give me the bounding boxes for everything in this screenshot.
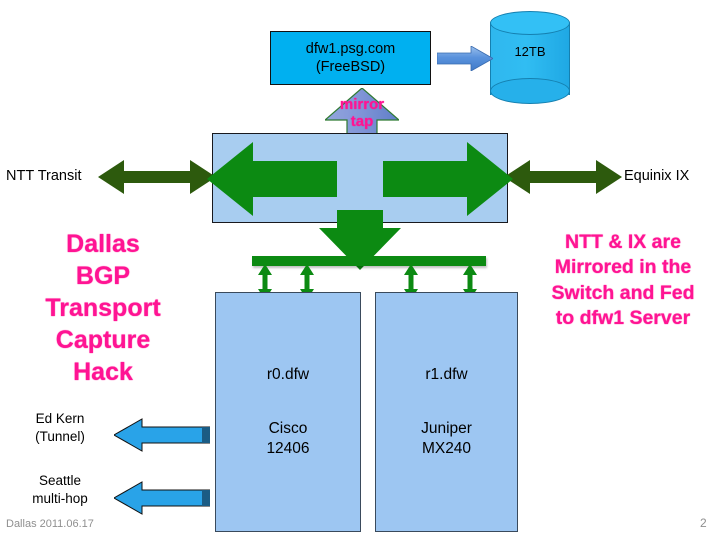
title-line-5: Hack: [8, 356, 198, 388]
seattle-multihop-label: Seattle multi-hop: [8, 472, 112, 507]
note-line-1: NTT & IX are: [526, 230, 720, 255]
server-box: dfw1.psg.com (FreeBSD): [270, 31, 431, 85]
router-model: Juniper MX240: [421, 419, 472, 459]
cylinder-bottom-cap: [490, 78, 570, 104]
cylinder-database-icon: 12TB: [490, 14, 572, 106]
cylinder-top-cap: [490, 11, 570, 35]
ed-kern-tunnel-label: Ed Kern (Tunnel): [8, 410, 112, 445]
note-line-2: Mirrored in the: [526, 255, 720, 280]
mirror-tap-label: mirror tap: [319, 96, 405, 131]
slide-canvas: 12TB dfw1.psg.com (FreeBSD): [0, 0, 720, 540]
router-name: r0.dfw: [267, 365, 309, 384]
equinix-ix-label: Equinix IX: [624, 168, 720, 184]
title-line-2: BGP: [8, 260, 198, 292]
seattle-line1: Seattle: [39, 473, 81, 488]
server-hostname: dfw1.psg.com: [306, 40, 395, 58]
note-line-3: Switch and Fed: [526, 281, 720, 306]
annotation-note: NTT & IX are Mirrored in the Switch and …: [526, 230, 720, 331]
router-vendor: Cisco: [269, 420, 308, 437]
router-model-number: 12406: [266, 440, 309, 457]
double-arrow-horizontal-icon: [504, 158, 622, 196]
page-title: Dallas BGP Transport Capture Hack: [8, 228, 198, 388]
footer-date: Dallas 2011.06.17: [6, 518, 94, 530]
title-line-4: Capture: [8, 324, 198, 356]
left-arrow-icon: [114, 481, 210, 515]
double-arrow-horizontal-icon: [98, 158, 216, 196]
server-os: (FreeBSD): [306, 58, 395, 76]
router-model-number: MX240: [422, 440, 471, 457]
router-box-r1: r1.dfw Juniper MX240: [375, 292, 518, 532]
title-line-1: Dallas: [8, 228, 198, 260]
mirror-tap-line2: tap: [351, 113, 374, 130]
left-arrow-icon: [114, 418, 210, 452]
footer-page-number: 2: [700, 516, 707, 530]
router-box-r0: r0.dfw Cisco 12406: [215, 292, 361, 532]
ntt-transit-label: NTT Transit: [6, 168, 98, 184]
mirror-bus-bar: [252, 256, 486, 266]
router-vendor: Juniper: [421, 420, 472, 437]
right-arrow-icon: [437, 46, 493, 71]
ed-kern-line2: (Tunnel): [35, 429, 85, 444]
mirror-tap-line1: mirror: [340, 96, 384, 113]
router-model: Cisco 12406: [266, 419, 309, 459]
mirror-flow-arrow-icon: [207, 138, 513, 270]
title-line-3: Transport: [8, 292, 198, 324]
seattle-line2: multi-hop: [32, 491, 88, 506]
ed-kern-line1: Ed Kern: [36, 411, 85, 426]
storage-capacity-label: 12TB: [490, 44, 570, 59]
note-line-4: to dfw1 Server: [526, 306, 720, 331]
router-name: r1.dfw: [425, 365, 467, 384]
